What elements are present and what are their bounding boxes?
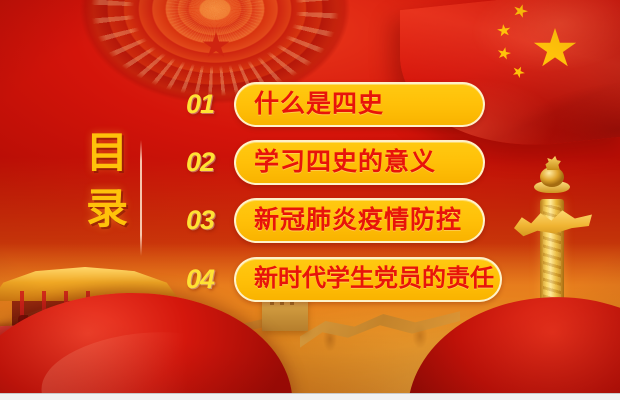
toc-item-02[interactable]: 02 学习四史的意义 [186,139,485,185]
slide-content: 目 录 01 什么是四史 02 学习四史的意义 [0,0,620,393]
toc-number-03: 03 [186,205,234,236]
slide-canvas: 目 录 01 什么是四史 02 学习四史的意义 [0,0,620,393]
presentation-slide: 目 录 01 什么是四史 02 学习四史的意义 [0,0,620,400]
toc-label-02: 学习四史的意义 [254,150,436,175]
toc-list: 01 什么是四史 02 学习四史的意义 03 新冠肺炎疫情防控 [0,0,620,393]
toc-number-04: 04 [186,264,234,295]
toc-pill-01[interactable]: 什么是四史 [234,82,485,127]
toc-item-01[interactable]: 01 什么是四史 [186,81,485,127]
toc-label-03: 新冠肺炎疫情防控 [254,208,462,233]
toc-pill-04[interactable]: 新时代学生党员的责任 [234,257,502,302]
toc-pill-02[interactable]: 学习四史的意义 [234,140,485,185]
bottom-strip [0,393,620,400]
toc-label-04: 新时代学生党员的责任 [254,267,494,291]
toc-item-03[interactable]: 03 新冠肺炎疫情防控 [186,197,485,243]
toc-label-01: 什么是四史 [254,92,384,117]
toc-item-04[interactable]: 04 新时代学生党员的责任 [186,256,502,302]
toc-number-01: 01 [186,89,234,120]
toc-pill-03[interactable]: 新冠肺炎疫情防控 [234,198,485,243]
toc-number-02: 02 [186,147,234,178]
